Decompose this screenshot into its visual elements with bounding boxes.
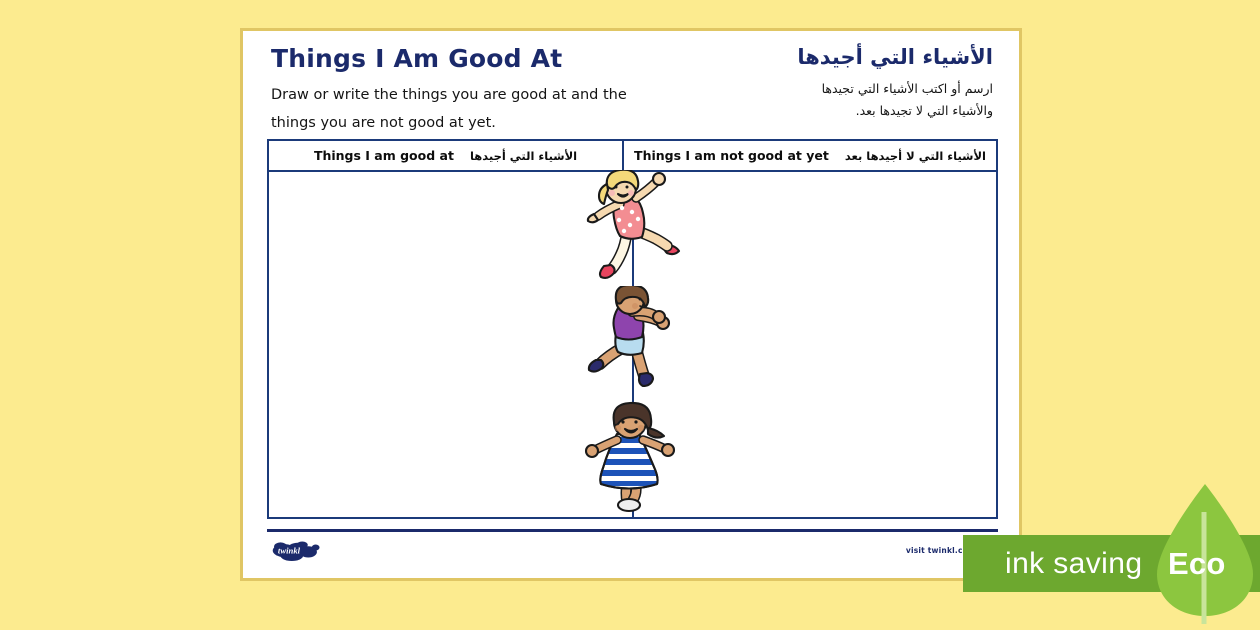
ink-saving-label: ink saving	[1005, 547, 1142, 581]
column-header-arabic-good-at: الأشياء التي أجيدها	[470, 149, 577, 163]
subtitle-english-line-1: Draw or write the things you are good at…	[271, 81, 671, 109]
writing-area-good-at[interactable]	[269, 172, 633, 517]
subtitle-arabic-line-2: والأشياء التي لا تجيدها بعد.	[663, 100, 993, 122]
worksheet-header: Things I Am Good At Draw or write the th…	[267, 45, 997, 137]
svg-text:twinkl: twinkl	[278, 546, 301, 556]
worksheet-page: Things I Am Good At Draw or write the th…	[240, 28, 1022, 581]
worksheet-footer: twinkl visit twinkl.com	[267, 529, 998, 567]
page-title-english: Things I Am Good At	[271, 45, 671, 73]
writing-area-not-good-at-yet[interactable]	[633, 172, 997, 517]
subtitle-arabic-line-1: ارسم أو اكتب الأشياء التي تجيدها	[663, 78, 993, 100]
column-header-english-good-at: Things I am good at	[314, 148, 454, 163]
header-arabic-block: الأشياء التي أجيدها ارسم أو اكتب الأشياء…	[663, 45, 993, 122]
eco-label: Eco	[1168, 546, 1225, 582]
subtitle-english-line-2: things you are not good at yet.	[271, 109, 671, 137]
column-header-english-not-good-at-yet: Things I am not good at yet	[634, 148, 829, 163]
column-divider	[632, 172, 634, 517]
table-body	[269, 172, 996, 517]
worksheet-table: Things I am good at الأشياء التي أجيدها …	[267, 139, 998, 519]
twinkl-logo-icon: twinkl	[271, 540, 323, 562]
table-header-cell-not-good-at-yet: Things I am not good at yet الأشياء التي…	[622, 141, 996, 170]
header-english-block: Things I Am Good At Draw or write the th…	[271, 45, 671, 137]
page-title-arabic: الأشياء التي أجيدها	[663, 45, 993, 69]
column-header-arabic-not-good-at-yet: الأشياء التي لا أجيدها بعد	[845, 149, 986, 163]
table-header-row: Things I am good at الأشياء التي أجيدها …	[269, 141, 996, 172]
table-header-cell-good-at: Things I am good at الأشياء التي أجيدها	[269, 141, 622, 170]
